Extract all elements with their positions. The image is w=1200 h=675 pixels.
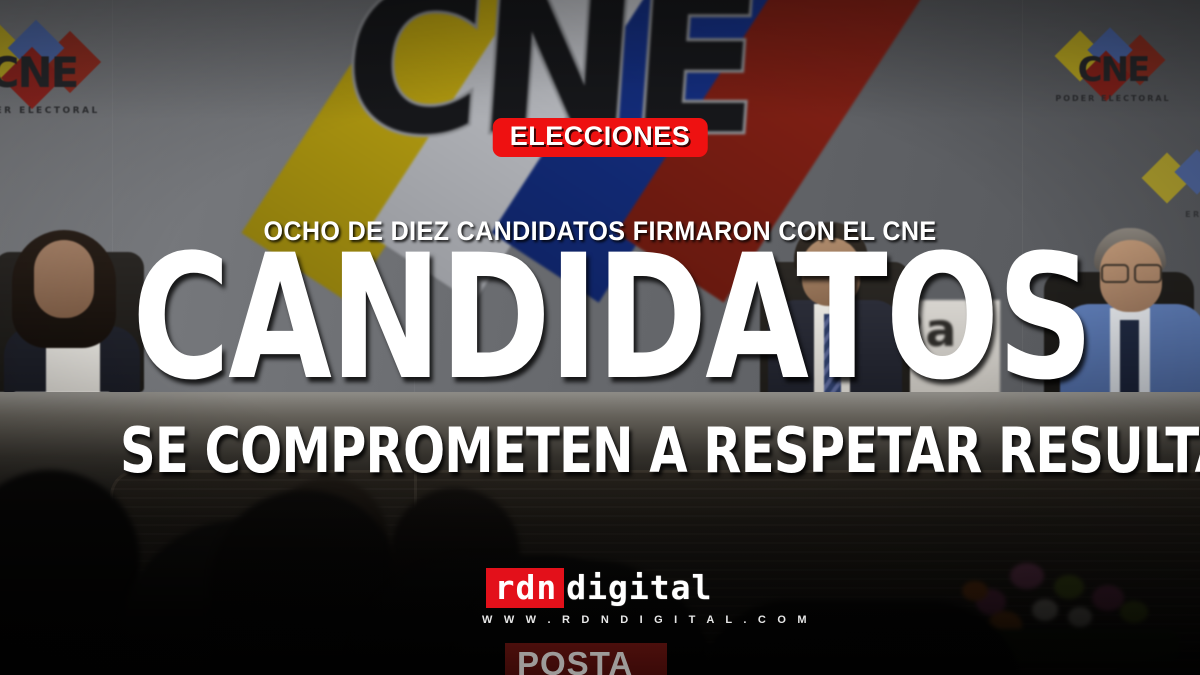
category-badge: ELECCIONES xyxy=(493,118,708,157)
cne-subtitle: PODER ELECTORAL xyxy=(1048,94,1178,103)
page-title: CANDIDATOS xyxy=(132,236,1068,399)
flower-white xyxy=(1032,599,1058,621)
eyeglasses-right-lens xyxy=(1134,264,1162,283)
brand-website-url: W W W . R D N D I G I T A L . C O M xyxy=(482,614,718,626)
subheadline-text: SE COMPROMETEN A RESPETAR RESULTADOS xyxy=(120,420,1080,482)
posta-watermark-label: POSTA xyxy=(517,645,633,675)
cne-wordmark: CNE xyxy=(1048,50,1178,90)
face xyxy=(34,240,94,318)
eyeglasses-left-lens xyxy=(1101,264,1129,283)
flower-green xyxy=(1120,601,1148,623)
cne-logo-top-left: CNE PODER ELECTORAL xyxy=(0,22,108,132)
flower-pink xyxy=(1010,563,1044,589)
brand-logo: rdn digital W W W . R D N D I G I T A L … xyxy=(482,568,718,626)
brand-wordmark-row: rdn digital xyxy=(482,568,718,608)
flower-pink xyxy=(1092,585,1124,611)
flower-orange xyxy=(962,581,988,601)
news-thumbnail-image: CNE CNE PODER ELECTORAL CNE PODER ELECTO… xyxy=(0,0,1200,675)
cne-wordmark: CNE xyxy=(0,48,108,97)
flower-green xyxy=(1054,575,1084,599)
brand-name-secondary: digital xyxy=(564,568,714,608)
cne-subtitle: PODER ELECTORAL xyxy=(0,106,108,116)
posta-watermark: POSTA xyxy=(505,643,667,675)
cne-backdrop-logo: CNE xyxy=(300,0,860,220)
cne-logo-top-right: CNE PODER ELECTORAL xyxy=(1048,28,1178,124)
brand-name-primary: rdn xyxy=(486,568,565,608)
audience-silhouette xyxy=(700,600,1020,675)
flower-white xyxy=(1068,607,1092,627)
